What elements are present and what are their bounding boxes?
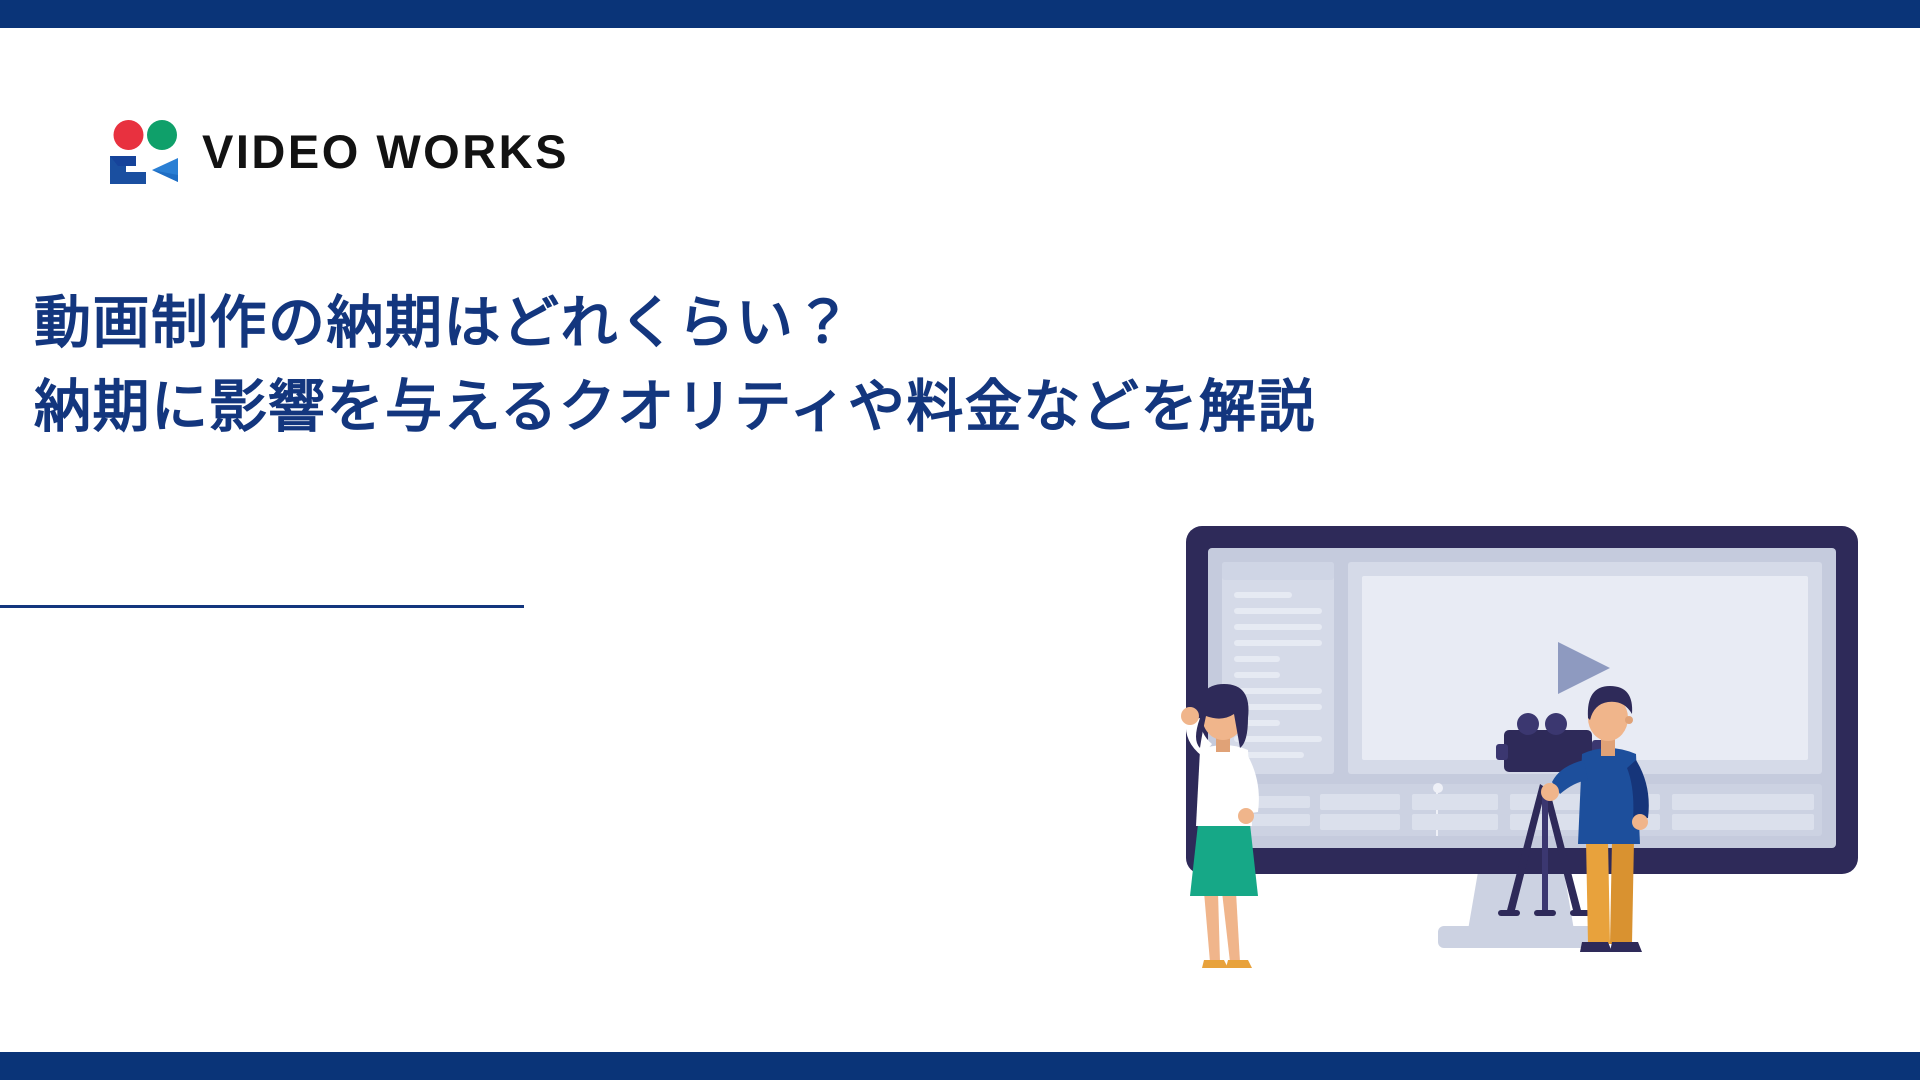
page-title: 動画制作の納期はどれくらい？ 納期に影響を与えるクオリティや料金などを解説 <box>34 282 1534 450</box>
editor-sidebar-panel <box>1222 562 1334 774</box>
top-accent-bar <box>0 0 1920 28</box>
video-production-team-illustration <box>1180 520 1880 1040</box>
brand-logo: VIDEO WORKS <box>108 118 569 184</box>
slide-canvas: VIDEO WORKS 動画制作の納期はどれくらい？ 納期に影響を与えるクオリテ… <box>0 0 1920 1080</box>
title-underline-rule <box>0 605 524 608</box>
page-title-line-1: 動画制作の納期はどれくらい？ <box>34 282 1534 366</box>
page-title-line-2: 納期に影響を与えるクオリティや料金などを解説 <box>34 366 1534 450</box>
brand-wordmark: VIDEO WORKS <box>202 128 569 175</box>
video-works-logo-mark-icon <box>108 118 180 184</box>
editor-timeline-panel <box>1222 783 1822 836</box>
bottom-accent-bar <box>0 1052 1920 1080</box>
